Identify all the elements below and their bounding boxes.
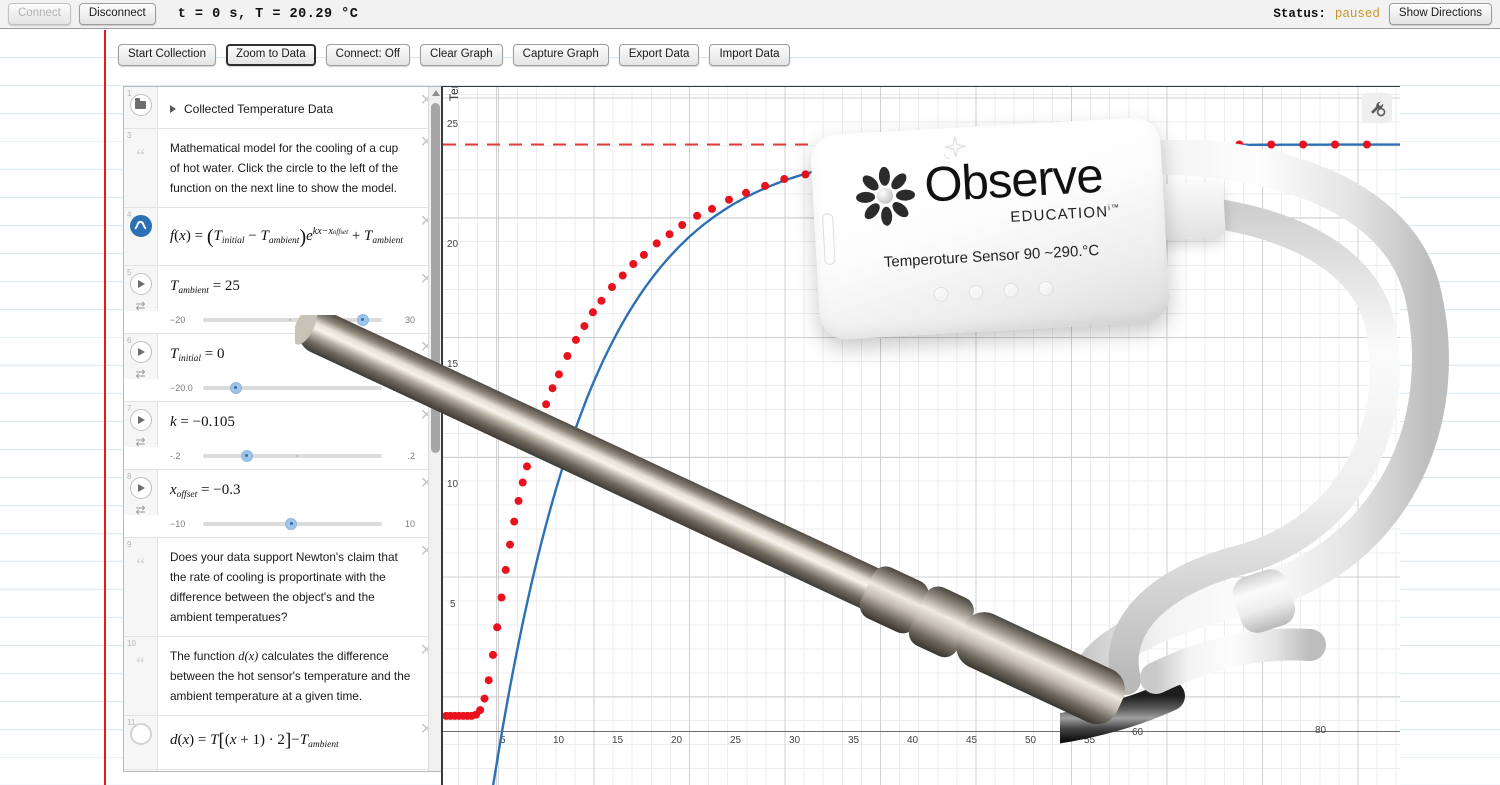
data-point: [725, 196, 733, 204]
data-point: [476, 706, 484, 714]
data-point: [485, 676, 493, 684]
slider-min-label: −20: [170, 315, 196, 325]
slider-track[interactable]: [203, 454, 382, 458]
folder-title: Collected Temperature Data: [184, 102, 333, 116]
data-point: [761, 182, 769, 190]
top-status-bar: Connect Disconnect t = 0 s, T = 20.29 °C…: [0, 0, 1500, 29]
slider-expression[interactable]: xoffset = −0.3: [158, 470, 441, 515]
expression-gutter: 7 ⇄: [124, 402, 158, 447]
data-point: [1267, 141, 1275, 149]
export-data-button[interactable]: Export Data: [619, 44, 700, 66]
expression-index: 7: [127, 404, 131, 413]
data-point: [1299, 141, 1307, 149]
data-point: [493, 623, 501, 631]
slider-value: 25: [225, 278, 240, 294]
connect-button[interactable]: Connect: [8, 3, 71, 25]
expression-gutter: 9 “: [124, 538, 158, 636]
slider-max-label: 100.0: [389, 383, 415, 393]
sensor-brand-name: Observe: [923, 148, 1104, 214]
wrench-icon[interactable]: [1362, 93, 1392, 123]
data-point: [489, 651, 497, 659]
clear-graph-button[interactable]: Clear Graph: [420, 44, 503, 66]
data-point: [597, 297, 605, 305]
swap-icon[interactable]: ⇄: [135, 437, 145, 447]
connect-toggle-button[interactable]: Connect: Off: [326, 44, 410, 66]
function-toggle-icon[interactable]: [130, 215, 152, 237]
disconnect-button[interactable]: Disconnect: [79, 3, 156, 25]
expression-gutter: 4: [124, 208, 158, 265]
data-point: [1363, 141, 1371, 149]
expression-row-function-d[interactable]: 11 d(x) = T[(x + 1) · 2]−Tambient ✕: [124, 716, 441, 770]
data-point: [519, 479, 527, 487]
data-point: [666, 230, 674, 238]
folder-row-body[interactable]: Collected Temperature Data: [158, 87, 441, 128]
slider-sub: initial: [178, 354, 201, 364]
sensor-led: [968, 284, 984, 300]
slider-expression[interactable]: Tinitial = 0: [158, 334, 441, 379]
data-point: [1203, 141, 1211, 149]
expression-gutter: 10 “: [124, 637, 158, 715]
slider-thumb[interactable]: [241, 450, 253, 462]
swap-icon[interactable]: ⇄: [135, 301, 145, 311]
expression-row-note-2[interactable]: 9 “ Does your data support Newton's clai…: [124, 538, 441, 637]
data-point: [708, 205, 716, 213]
play-icon[interactable]: [130, 341, 152, 363]
slider-control[interactable]: −20.0 100.0: [124, 379, 441, 401]
expression-index: 4: [127, 210, 131, 219]
data-point: [555, 370, 563, 378]
expression-row-slider-x-offset[interactable]: 8 ⇄ xoffset = −0.3 ✕ −10 10: [124, 470, 441, 538]
expression-row-folder[interactable]: 1 Collected Temperature Data ✕: [124, 87, 441, 129]
slider-max-label: 30: [389, 315, 415, 325]
slider-min-label: -.2: [170, 451, 196, 461]
note-text: Mathematical model for the cooling of a …: [158, 129, 441, 207]
data-point: [1331, 141, 1339, 149]
data-point: [529, 439, 537, 447]
expression-gutter: 3 “: [124, 129, 158, 207]
expression-gutter: 5 ⇄: [124, 266, 158, 311]
data-point: [802, 170, 810, 178]
expression-list-panel[interactable]: 1 Collected Temperature Data ✕ 3 “ Mathe…: [123, 86, 441, 772]
sensor-brand-tm: i™: [1108, 203, 1121, 213]
expression-row-slider-t-ambient[interactable]: 5 ⇄ Tambient = 25 ✕ −20 30: [124, 266, 441, 334]
slider-value: −0.3: [213, 482, 240, 498]
expression-panel-scrollbar[interactable]: [428, 87, 441, 772]
swap-icon[interactable]: ⇄: [135, 369, 145, 379]
data-point: [780, 175, 788, 183]
observe-flower-logo-icon: [851, 162, 918, 229]
scroll-up-arrow-icon[interactable]: [432, 90, 440, 96]
sensor-led: [1038, 281, 1054, 297]
slider-expression[interactable]: k = −0.105: [158, 402, 441, 447]
slider-value: 0: [217, 346, 225, 362]
show-directions-button[interactable]: Show Directions: [1389, 3, 1492, 25]
data-point: [498, 594, 506, 602]
import-data-button[interactable]: Import Data: [709, 44, 789, 66]
data-point: [563, 352, 571, 360]
slider-value: −0.105: [193, 414, 235, 430]
data-point: [619, 272, 627, 280]
expression-index: 10: [127, 639, 136, 648]
data-point: [1235, 141, 1243, 149]
data-point: [536, 419, 544, 427]
sensor-led: [933, 286, 949, 302]
swap-icon[interactable]: ⇄: [135, 505, 145, 515]
expression-row-note-3[interactable]: 10 “ The function d(x) calculates the di…: [124, 637, 441, 716]
data-point: [549, 384, 557, 392]
chevron-right-icon[interactable]: [170, 105, 176, 113]
play-icon[interactable]: [130, 409, 152, 431]
data-point: [742, 189, 750, 197]
status-label: Status:: [1273, 7, 1326, 21]
slider-expression[interactable]: Tambient = 25: [158, 266, 441, 311]
data-point: [640, 251, 648, 259]
data-point: [1172, 141, 1180, 149]
expression-gutter: 1: [124, 87, 158, 128]
data-point: [653, 239, 661, 247]
data-point: [608, 283, 616, 291]
note-inline-math: d(x): [238, 649, 258, 663]
function-formula[interactable]: f(x) = (Tinitial − Tambient)ekx−xoffset …: [158, 208, 441, 265]
play-icon[interactable]: [130, 477, 152, 499]
app-page: Connect Disconnect t = 0 s, T = 20.29 °C…: [0, 0, 1500, 785]
slider-max-label: .2: [389, 451, 415, 461]
expression-index: 11: [127, 718, 135, 727]
temperature-sensor-device: Observe EDUCATIONi™ Temperoture Sensor 9…: [810, 116, 1171, 340]
note-text: The function d(x) calculates the differe…: [158, 637, 441, 715]
data-point: [542, 400, 550, 408]
slider-thumb[interactable]: [285, 518, 297, 530]
expression-gutter: 12: [124, 770, 158, 772]
expression-index: 1: [127, 89, 131, 98]
expression-index: 6: [127, 336, 131, 345]
data-point: [678, 221, 686, 229]
quote-icon: “: [136, 152, 144, 162]
data-point: [515, 497, 523, 505]
expression-row-slider-t-initial[interactable]: 6 ⇄ Tinitial = 0 ✕ −20.0 100.0: [124, 334, 441, 402]
status-badge: paused: [1335, 7, 1380, 21]
data-point: [523, 462, 531, 470]
status-area: Status: paused Show Directions: [1273, 3, 1492, 25]
slider-min-label: −20.0: [170, 383, 196, 393]
quote-icon: “: [136, 561, 144, 571]
data-point: [589, 308, 597, 316]
expression-gutter: 8 ⇄: [124, 470, 158, 515]
expression-row-function-f[interactable]: 4 f(x) = (Tinitial − Tambient)ekx−xoffse…: [124, 208, 441, 266]
slider-sub: offset: [177, 490, 198, 500]
play-icon[interactable]: [130, 273, 152, 295]
expression-index: 3: [127, 131, 131, 140]
zoom-to-data-button[interactable]: Zoom to Data: [226, 44, 316, 66]
slider-min-label: −10: [170, 519, 196, 529]
expression-gutter: 6 ⇄: [124, 334, 158, 379]
slider-track[interactable]: [203, 386, 382, 390]
folder-icon[interactable]: [130, 94, 152, 116]
note-text: The table below shows the temperature di…: [158, 770, 441, 772]
slider-control[interactable]: −10 10: [124, 515, 441, 537]
collection-toolbar: Start Collection Zoom to Data Connect: O…: [118, 44, 790, 66]
data-point: [580, 322, 588, 330]
expression-gutter: 11: [124, 716, 158, 769]
expression-index: 5: [127, 268, 131, 277]
data-point: [693, 212, 701, 220]
slider-thumb[interactable]: [230, 382, 242, 394]
note-text: Does your data support Newton's claim th…: [158, 538, 441, 636]
slider-sub: ambient: [178, 286, 209, 296]
function-formula[interactable]: d(x) = T[(x + 1) · 2]−Tambient: [158, 716, 441, 769]
note-text-part-a: The function: [170, 649, 238, 663]
expression-index: 9: [127, 540, 131, 549]
slider-var: k: [170, 414, 177, 430]
start-collection-button[interactable]: Start Collection: [118, 44, 216, 66]
data-point: [506, 541, 514, 549]
expression-index: 8: [127, 472, 131, 481]
slider-max-label: 10: [389, 519, 415, 529]
slider-track[interactable]: [203, 522, 382, 526]
slider-thumb[interactable]: [357, 314, 369, 326]
slider-control[interactable]: −20 30: [124, 311, 441, 333]
slider-control[interactable]: -.2 .2: [124, 447, 441, 469]
slider-var: x: [170, 482, 177, 498]
capture-graph-button[interactable]: Capture Graph: [513, 44, 609, 66]
notebook-margin-rule: [104, 30, 106, 785]
expression-row-slider-k[interactable]: 7 ⇄ k = −0.105 ✕ -.2 .2: [124, 402, 441, 470]
quote-icon: “: [136, 660, 144, 670]
sensor-readout: t = 0 s, T = 20.29 °C: [178, 7, 359, 22]
expression-row-note-1[interactable]: 3 “ Mathematical model for the cooling o…: [124, 129, 441, 208]
data-point: [572, 336, 580, 344]
data-point: [481, 695, 489, 703]
scrollbar-thumb[interactable]: [431, 103, 440, 453]
data-point: [629, 260, 637, 268]
slider-track[interactable]: [203, 318, 382, 322]
data-point: [510, 518, 518, 526]
data-point: [502, 566, 510, 574]
expression-row-note-4[interactable]: 12 The table below shows the temperature…: [124, 770, 441, 772]
sensor-led: [1003, 283, 1019, 299]
